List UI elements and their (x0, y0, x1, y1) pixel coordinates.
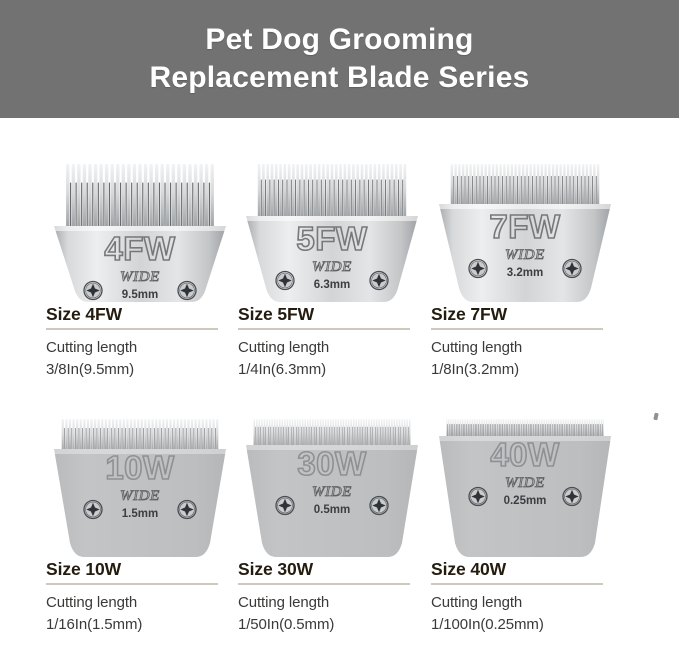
blade-illustration: 7FWWIDE3.2mm (437, 158, 613, 308)
blade-engraved-wide: WIDE (120, 488, 160, 504)
blade-info-1: Size 5FW Cutting length 1/4In(6.3mm) (238, 305, 432, 380)
cutting-length-label: Cutting length (46, 592, 240, 613)
blade-engraved-code: 5FW (296, 220, 368, 257)
blade-screw-icon (178, 501, 196, 519)
blade-illustration: 30WWIDE0.5mm (244, 413, 420, 563)
blade-illustration: 10WWIDE1.5mm (52, 413, 228, 563)
blade-comb-teeth (451, 164, 600, 208)
blade-image-3: 10WWIDE1.5mm (40, 405, 240, 555)
blade-illustration: 40WWIDE0.25mm (437, 413, 613, 563)
blade-image-2: 7FWWIDE3.2mm (425, 150, 625, 300)
cutting-length-label: Cutting length (238, 592, 432, 613)
blade-illustration: 4FWWIDE9.5mm (52, 158, 228, 308)
blade-size-title: Size 4FW (46, 305, 240, 328)
blade-engraved-wide: WIDE (120, 269, 160, 285)
title-underline (431, 583, 603, 585)
blade-screw-icon (276, 497, 294, 515)
cutting-length-value: 1/4In(6.3mm) (238, 359, 432, 380)
blade-image-0: 4FWWIDE9.5mm (40, 150, 240, 300)
cutting-length-label: Cutting length (431, 337, 625, 358)
title-underline (238, 583, 410, 585)
blade-engraved-wide: WIDE (505, 247, 545, 263)
cutting-length-value: 3/8In(9.5mm) (46, 359, 240, 380)
title-underline (46, 328, 218, 330)
cutting-length-value: 1/16In(1.5mm) (46, 614, 240, 635)
blade-screw-icon (178, 282, 196, 300)
blade-info-3: Size 10W Cutting length 1/16In(1.5mm) (46, 560, 240, 635)
blade-row-2: 10WWIDE1.5mm Size 10W Cutting length 1/1… (0, 405, 679, 655)
blade-screw-icon (84, 501, 102, 519)
title-underline (46, 583, 218, 585)
blade-screw-icon (563, 488, 581, 506)
blade-card-4[interactable]: 30WWIDE0.5mm Size 30W Cutting length 1/5… (232, 405, 432, 655)
page-header-banner: Pet Dog Grooming Replacement Blade Serie… (0, 0, 679, 118)
blade-engraved-wide: WIDE (312, 259, 352, 275)
blade-size-title: Size 5FW (238, 305, 432, 328)
blade-card-5[interactable]: 40WWIDE0.25mm Size 40W Cutting length 1/… (425, 405, 625, 655)
blade-grid: 4FWWIDE9.5mm Size 4FW Cutting length 3/8… (0, 118, 679, 637)
blade-illustration: 5FWWIDE6.3mm (244, 158, 420, 308)
blade-card-3[interactable]: 10WWIDE1.5mm Size 10W Cutting length 1/1… (40, 405, 240, 655)
blade-card-0[interactable]: 4FWWIDE9.5mm Size 4FW Cutting length 3/8… (40, 150, 240, 400)
blade-card-1[interactable]: 5FWWIDE6.3mm Size 5FW Cutting length 1/4… (232, 150, 432, 400)
blade-row-1: 4FWWIDE9.5mm Size 4FW Cutting length 3/8… (0, 150, 679, 400)
title-underline (238, 328, 410, 330)
blade-screw-icon (469, 260, 487, 278)
blade-size-title: Size 10W (46, 560, 240, 583)
blade-engraved-mm: 0.25mm (504, 495, 547, 507)
blade-engraved-code: 40W (490, 436, 560, 473)
blade-engraved-mm: 6.3mm (314, 279, 350, 291)
blade-size-title: Size 30W (238, 560, 432, 583)
cutting-length-label: Cutting length (238, 337, 432, 358)
blade-engraved-mm: 1.5mm (122, 508, 158, 520)
cutting-length-value: 1/100In(0.25mm) (431, 614, 625, 635)
blade-engraved-wide: WIDE (312, 484, 352, 500)
blade-comb-teeth (62, 419, 219, 453)
cutting-length-value: 1/8In(3.2mm) (431, 359, 625, 380)
blade-comb-teeth (258, 164, 406, 221)
blade-comb-teeth (66, 164, 214, 232)
blade-info-0: Size 4FW Cutting length 3/8In(9.5mm) (46, 305, 240, 380)
blade-screw-icon (469, 488, 487, 506)
blade-engraved-code: 30W (297, 445, 367, 482)
blade-info-5: Size 40W Cutting length 1/100In(0.25mm) (431, 560, 625, 635)
blade-engraved-code: 7FW (489, 208, 561, 245)
blade-screw-icon (370, 497, 388, 515)
blade-screw-icon (370, 272, 388, 290)
cutting-length-label: Cutting length (431, 592, 625, 613)
cutting-length-label: Cutting length (46, 337, 240, 358)
blade-info-2: Size 7FW Cutting length 1/8In(3.2mm) (431, 305, 625, 380)
blade-engraved-wide: WIDE (505, 475, 545, 491)
blade-image-1: 5FWWIDE6.3mm (232, 150, 432, 300)
title-underline (431, 328, 603, 330)
blade-screw-icon (563, 260, 581, 278)
blade-screw-icon (84, 282, 102, 300)
blade-card-2[interactable]: 7FWWIDE3.2mm Size 7FW Cutting length 1/8… (425, 150, 625, 400)
blade-size-title: Size 40W (431, 560, 625, 583)
blade-engraved-code: 4FW (104, 230, 176, 267)
blade-engraved-mm: 9.5mm (122, 289, 158, 301)
blade-engraved-mm: 0.5mm (314, 504, 350, 516)
blade-image-5: 40WWIDE0.25mm (425, 405, 625, 555)
blade-engraved-mm: 3.2mm (507, 267, 543, 279)
blade-engraved-code: 10W (105, 449, 175, 486)
blade-screw-icon (276, 272, 294, 290)
page-title: Pet Dog Grooming Replacement Blade Serie… (150, 21, 530, 98)
blade-image-4: 30WWIDE0.5mm (232, 405, 432, 555)
blade-size-title: Size 7FW (431, 305, 625, 328)
blade-info-4: Size 30W Cutting length 1/50In(0.5mm) (238, 560, 432, 635)
cutting-length-value: 1/50In(0.5mm) (238, 614, 432, 635)
